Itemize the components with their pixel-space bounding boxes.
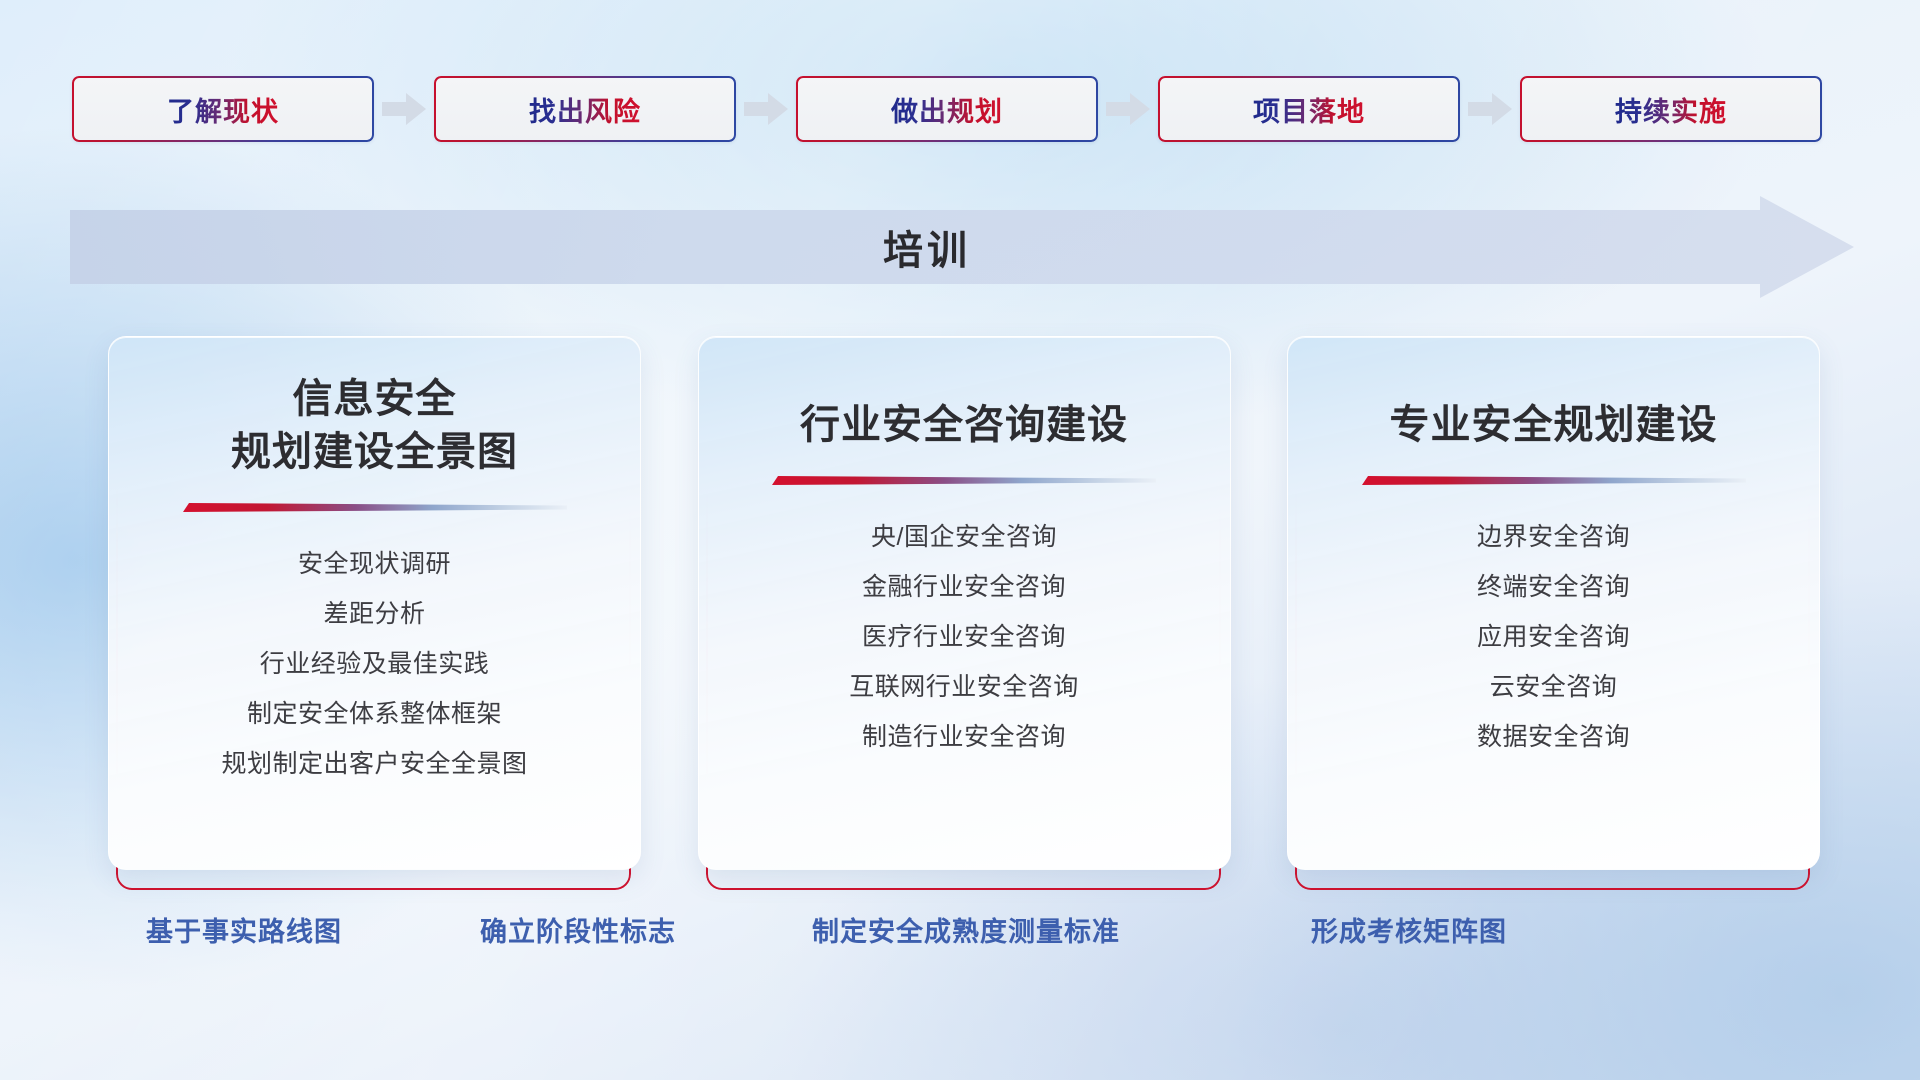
process-step-label: 持续实施 [1615, 90, 1727, 129]
gradient-underline-icon [772, 474, 1156, 488]
process-step-1[interactable]: 了解现状 [72, 76, 374, 142]
chevron-right-arrow-icon [374, 89, 434, 129]
list-item: 终端安全咨询 [1288, 562, 1819, 612]
card-item-list: 央/国企安全咨询金融行业安全咨询医疗行业安全咨询互联网行业安全咨询制造行业安全咨… [699, 512, 1230, 762]
list-item: 央/国企安全咨询 [699, 512, 1230, 562]
footer-labels-row: 基于事实路线图确立阶段性标志制定安全成熟度测量标准形成考核矩阵图 [0, 910, 1920, 960]
chevron-right-arrow-icon [736, 89, 796, 129]
card-item-list: 边界安全咨询终端安全咨询应用安全咨询云安全咨询数据安全咨询 [1288, 512, 1819, 762]
slide-stage: 了解现状找出风险做出规划项目落地持续实施 培训 信息安全规划建设全景图安全现状调… [0, 0, 1920, 1080]
list-item: 制定安全体系整体框架 [109, 689, 640, 739]
service-card-3[interactable]: 专业安全规划建设边界安全咨询终端安全咨询应用安全咨询云安全咨询数据安全咨询 [1287, 336, 1820, 876]
list-item: 边界安全咨询 [1288, 512, 1819, 562]
footer-label-2: 确立阶段性标志 [480, 910, 676, 949]
footer-label-1: 基于事实路线图 [146, 910, 342, 949]
gradient-underline-icon [183, 501, 567, 515]
process-step-label: 做出规划 [891, 90, 1003, 129]
band-title: 培训 [70, 218, 1854, 276]
card-item-list: 安全现状调研差距分析行业经验及最佳实践制定安全体系整体框架规划制定出客户安全全景… [109, 539, 640, 789]
card-panel: 行业安全咨询建设央/国企安全咨询金融行业安全咨询医疗行业安全咨询互联网行业安全咨… [698, 336, 1231, 870]
card-title-line: 行业安全咨询建设 [719, 399, 1210, 452]
card-panel: 专业安全规划建设边界安全咨询终端安全咨询应用安全咨询云安全咨询数据安全咨询 [1287, 336, 1820, 870]
list-item: 应用安全咨询 [1288, 612, 1819, 662]
card-title-line: 专业安全规划建设 [1308, 399, 1799, 452]
process-step-2[interactable]: 找出风险 [434, 76, 736, 142]
chevron-right-arrow-icon [1098, 89, 1158, 129]
process-step-label: 了解现状 [167, 90, 279, 129]
list-item: 云安全咨询 [1288, 662, 1819, 712]
gradient-underline-icon [1362, 474, 1746, 488]
card-panel: 信息安全规划建设全景图安全现状调研差距分析行业经验及最佳实践制定安全体系整体框架… [108, 336, 641, 870]
card-title: 专业安全规划建设 [1288, 399, 1819, 452]
process-steps-row: 了解现状找出风险做出规划项目落地持续实施 [72, 76, 1852, 142]
card-title-line: 规划建设全景图 [129, 426, 620, 479]
footer-label-3: 制定安全成熟度测量标准 [812, 910, 1120, 949]
process-step-label: 找出风险 [529, 90, 641, 129]
list-item: 安全现状调研 [109, 539, 640, 589]
process-step-3[interactable]: 做出规划 [796, 76, 1098, 142]
footer-label-4: 形成考核矩阵图 [1311, 910, 1507, 949]
process-step-5[interactable]: 持续实施 [1520, 76, 1822, 142]
cards-row: 信息安全规划建设全景图安全现状调研差距分析行业经验及最佳实践制定安全体系整体框架… [108, 336, 1820, 876]
list-item: 数据安全咨询 [1288, 712, 1819, 762]
list-item: 金融行业安全咨询 [699, 562, 1230, 612]
list-item: 医疗行业安全咨询 [699, 612, 1230, 662]
service-card-1[interactable]: 信息安全规划建设全景图安全现状调研差距分析行业经验及最佳实践制定安全体系整体框架… [108, 336, 641, 876]
card-title: 信息安全规划建设全景图 [109, 373, 640, 479]
card-title-line: 信息安全 [129, 373, 620, 426]
list-item: 行业经验及最佳实践 [109, 639, 640, 689]
service-card-2[interactable]: 行业安全咨询建设央/国企安全咨询金融行业安全咨询医疗行业安全咨询互联网行业安全咨… [698, 336, 1231, 876]
list-item: 差距分析 [109, 589, 640, 639]
process-step-4[interactable]: 项目落地 [1158, 76, 1460, 142]
list-item: 规划制定出客户安全全景图 [109, 739, 640, 789]
training-band: 培训 [70, 196, 1854, 298]
list-item: 制造行业安全咨询 [699, 712, 1230, 762]
list-item: 互联网行业安全咨询 [699, 662, 1230, 712]
card-title: 行业安全咨询建设 [699, 399, 1230, 452]
chevron-right-arrow-icon [1460, 89, 1520, 129]
process-step-label: 项目落地 [1253, 90, 1365, 129]
